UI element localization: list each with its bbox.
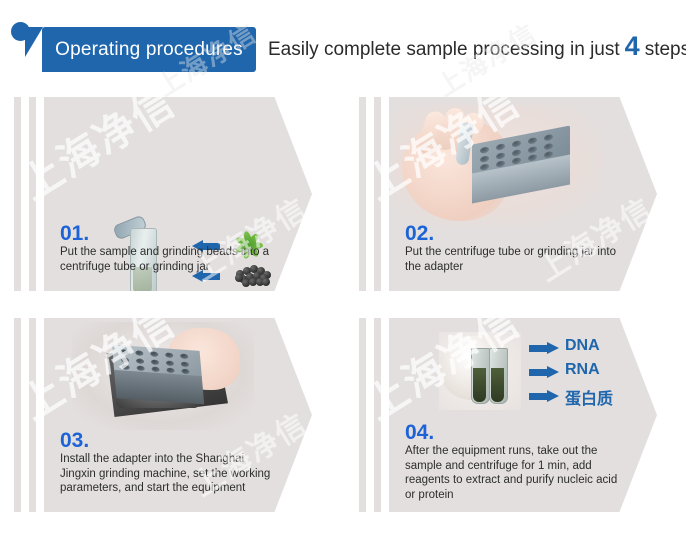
step-panel-04: DNA RNA 蛋白质 04. After the equipment runs… — [389, 318, 657, 512]
step-number-03: 03. — [60, 430, 89, 451]
step-description-01: Put the sample and grinding beads into a… — [60, 245, 275, 274]
header: Operating procedures Easily complete sam… — [0, 0, 686, 86]
accent-bar — [14, 97, 21, 291]
step-panel-01: 01. Put the sample and grinding beads in… — [44, 97, 312, 291]
accent-bar — [374, 97, 381, 291]
headline-text-pre: Easily complete sample processing in jus… — [268, 39, 620, 61]
product-label-protein: 蛋白质 — [565, 385, 613, 409]
step-panel-03: 03. Install the adapter into the Shangha… — [44, 318, 312, 512]
accent-bar — [29, 97, 36, 291]
step-panel-02: 02. Put the centrifuge tube or grinding … — [389, 97, 657, 291]
headline-text-post: steps: — [645, 39, 686, 61]
page-headline: Easily complete sample processing in jus… — [268, 33, 686, 61]
step-description-02: Put the centrifuge tube or grinding jar … — [405, 245, 620, 274]
accent-bar — [29, 318, 36, 512]
gloved-hand-photo — [439, 332, 521, 410]
accent-bar — [359, 318, 366, 512]
step-number-04: 04. — [405, 422, 434, 443]
step-description-03: Install the adapter into the Shanghai Ji… — [60, 452, 275, 496]
accent-bar — [374, 318, 381, 512]
arrow-right-icon — [529, 342, 559, 354]
arrow-right-icon — [529, 366, 559, 378]
step-description-04: After the equipment runs, take out the s… — [405, 444, 620, 502]
step-number-01: 01. — [60, 223, 89, 244]
grinding-machine-photo — [72, 322, 254, 430]
product-label-rna: RNA — [565, 361, 600, 379]
step-number-02: 02. — [405, 223, 434, 244]
accent-bar — [359, 97, 366, 291]
banner-tail-icon — [25, 27, 43, 57]
headline-step-count: 4 — [625, 33, 640, 60]
operating-procedures-badge: Operating procedures — [42, 27, 256, 72]
adapter-photo — [394, 105, 604, 227]
accent-bar — [14, 318, 21, 512]
product-label-dna: DNA — [565, 337, 600, 355]
arrow-right-icon — [529, 390, 559, 402]
